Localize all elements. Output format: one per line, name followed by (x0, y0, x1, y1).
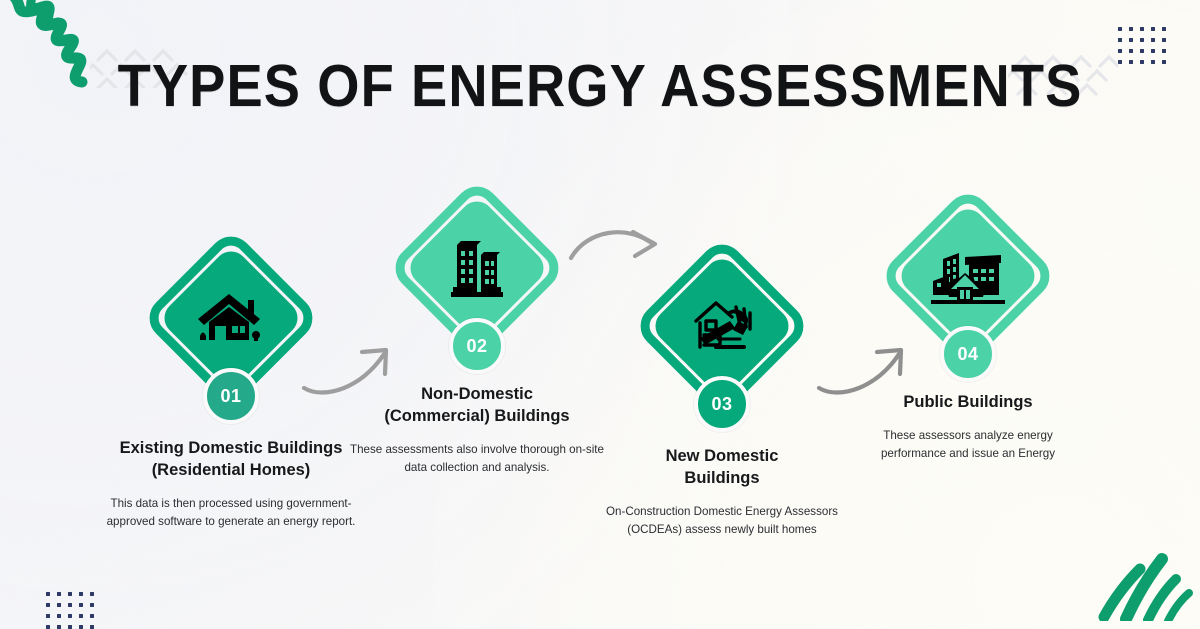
grid-dot (57, 625, 61, 629)
grid-dot (57, 603, 61, 607)
grid-dot (68, 592, 72, 596)
step-3-title-line-2: Buildings (572, 468, 872, 490)
grid-dot (1129, 38, 1133, 42)
grid-dot (57, 614, 61, 618)
step-4-diamond: 04 (878, 186, 1058, 366)
grid-dot (90, 614, 94, 618)
office-buildings-icon (434, 225, 520, 311)
grid-dot (90, 603, 94, 607)
grid-dot (68, 614, 72, 618)
grid-dot (68, 625, 72, 629)
grid-dot (1151, 38, 1155, 42)
grid-dot (1140, 27, 1144, 31)
grid-dot (1162, 60, 1166, 64)
step-4-description: These assessors analyze energy performan… (818, 427, 1118, 464)
grid-dot (46, 592, 50, 596)
grid-dot (79, 614, 83, 618)
grid-dot (79, 592, 83, 596)
grid-dot (46, 625, 50, 629)
grid-dot (46, 614, 50, 618)
grid-dot (1162, 27, 1166, 31)
public-buildings-icon (925, 233, 1011, 319)
grid-dot (1118, 38, 1122, 42)
grid-dot (57, 592, 61, 596)
step-4-title-line-1: Public Buildings (818, 392, 1118, 414)
page-title: TYPES OF ENERGY ASSESSMENTS (48, 52, 1152, 120)
grid-dot (1162, 38, 1166, 42)
green-brush-decoration (1096, 541, 1194, 626)
step-2-diamond: 02 (387, 178, 567, 358)
grid-dot (90, 592, 94, 596)
step-1-diamond: 01 (141, 228, 321, 408)
grid-dot (1162, 49, 1166, 53)
step-card-4[interactable]: 04 Public Buildings These assessors anal… (818, 186, 1118, 463)
grid-dot (1151, 27, 1155, 31)
step-4-title: Public Buildings (818, 392, 1118, 414)
grid-dot (46, 603, 50, 607)
grid-dot (79, 625, 83, 629)
grid-dot (1129, 27, 1133, 31)
dot-grid-decoration-2 (46, 592, 94, 629)
step-3-diamond: 03 (632, 236, 812, 416)
grid-dot (1118, 27, 1122, 31)
grid-dot (1140, 38, 1144, 42)
step-1-number-badge: 01 (203, 368, 259, 424)
step-1-description: This data is then processed using govern… (81, 495, 381, 532)
grid-dot (68, 603, 72, 607)
house-icon (188, 275, 274, 361)
step-3-number-badge: 03 (694, 376, 750, 432)
house-under-construction-icon (679, 283, 765, 369)
infographic-canvas: TYPES OF ENERGY ASSESSMENTS (0, 0, 1200, 628)
step-2-number-badge: 02 (449, 318, 505, 374)
grid-dot (79, 603, 83, 607)
step-4-number-badge: 04 (940, 326, 996, 382)
grid-dot (90, 625, 94, 629)
step-3-description: On-Construction Domestic Energy Assessor… (572, 503, 872, 540)
